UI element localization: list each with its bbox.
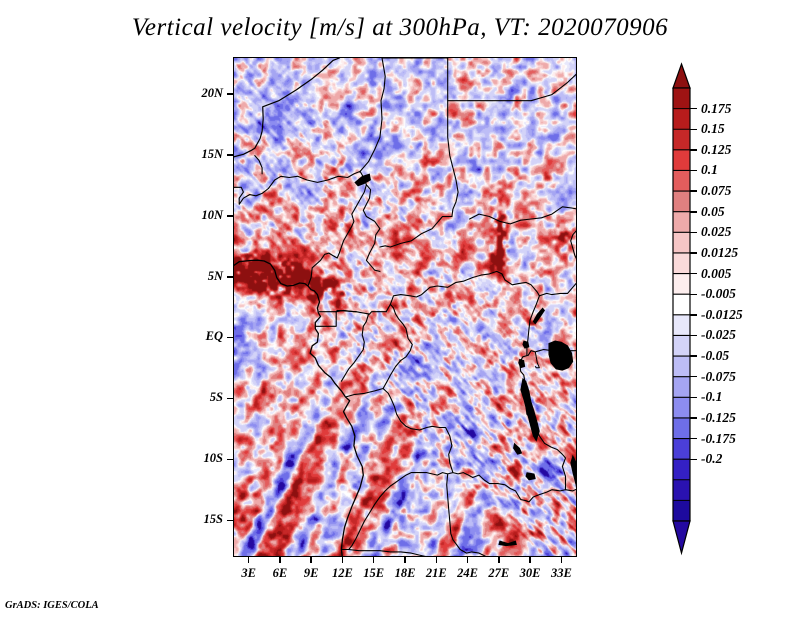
colorbar-band	[673, 294, 690, 315]
colorbar-tick-mark	[690, 108, 697, 109]
lake-polygon	[513, 443, 521, 454]
colorbar-band	[673, 480, 690, 501]
colorbar-band	[673, 459, 690, 480]
map-border-line	[308, 185, 366, 286]
latitude-tick-mark	[227, 398, 233, 400]
lake-polygon	[521, 379, 540, 441]
map-border-line	[448, 73, 577, 101]
map-border-line	[346, 389, 453, 550]
colorbar-tick-mark	[690, 129, 697, 130]
longitude-tick-mark	[342, 557, 344, 563]
colorbar-band	[673, 335, 690, 356]
colorbar-tick-mark	[690, 397, 697, 398]
colorbar-tick-mark	[690, 190, 697, 191]
colorbar-band	[673, 356, 690, 377]
colorbar-tick-label: -0.05	[701, 348, 729, 364]
colorbar-band	[673, 212, 690, 233]
colorbar-tick-mark	[690, 355, 697, 356]
colorbar[interactable]: 0.1750.150.1250.10.0750.050.0250.01250.0…	[671, 62, 800, 557]
colorbar-tick-label: 0.075	[701, 183, 731, 199]
latitude-tick-mark	[227, 215, 233, 217]
colorbar-band	[673, 274, 690, 295]
colorbar-band	[673, 315, 690, 336]
longitude-tick-mark	[248, 557, 250, 563]
latitude-tick-label: 5S	[175, 390, 223, 405]
lake-polygon	[523, 341, 529, 348]
map-border-line	[380, 217, 452, 248]
colorbar-tick-label: -0.125	[701, 410, 736, 426]
longitude-tick-mark	[467, 557, 469, 563]
latitude-tick-label: 15S	[175, 512, 223, 527]
colorbar-tick-mark	[690, 294, 697, 295]
map-border-line	[234, 260, 363, 557]
map-border-line	[360, 58, 385, 171]
map-border-line	[571, 229, 577, 262]
colorbar-tick-mark	[690, 170, 697, 171]
lake-polygon	[533, 308, 544, 324]
colorbar-tick-mark	[690, 335, 697, 336]
latitude-tick-mark	[227, 93, 233, 95]
colorbar-tick-label: 0.025	[701, 224, 731, 240]
longitude-tick-mark	[498, 557, 500, 563]
colorbar-tick-label: 0.0125	[701, 245, 738, 261]
colorbar-band	[673, 129, 690, 150]
colorbar-tick-label: -0.025	[701, 327, 736, 343]
map-panel[interactable]	[233, 57, 577, 557]
colorbar-tick-label: 0.1	[701, 162, 718, 178]
colorbar-band	[673, 150, 690, 171]
latitude-tick-label: 20N	[175, 86, 223, 101]
colorbar-tick-label: 0.005	[701, 266, 731, 282]
latitude-tick-mark	[227, 337, 233, 339]
longitude-tick-mark	[373, 557, 375, 563]
colorbar-tick-mark	[690, 252, 697, 253]
map-border-line	[356, 312, 370, 314]
colorbar-tick-mark	[690, 211, 697, 212]
page-title: Vertical velocity [m/s] at 300hPa, VT: 2…	[0, 14, 800, 42]
map-border-line	[470, 207, 577, 224]
colorbar-band	[673, 377, 690, 398]
latitude-tick-mark	[227, 520, 233, 522]
colorbar-band	[673, 418, 690, 439]
grads-plot-window: Vertical velocity [m/s] at 300hPa, VT: 2…	[0, 0, 800, 618]
longitude-tick-mark	[404, 557, 406, 563]
map-border-line	[453, 473, 566, 502]
colorbar-band	[673, 397, 690, 418]
latitude-tick-label: 10N	[175, 208, 223, 223]
longitude-tick-label: 33E	[536, 566, 586, 581]
colorbar-band	[673, 232, 690, 253]
colorbar-tick-mark	[690, 314, 697, 315]
map-border-line	[234, 171, 380, 271]
latitude-tick-mark	[227, 154, 233, 156]
map-frame	[233, 57, 577, 557]
map-border-line	[447, 474, 489, 557]
attribution-footer: GrADS: IGES/COLA	[5, 600, 99, 611]
map-border-line	[370, 312, 387, 314]
colorbar-tick-label: -0.0125	[701, 307, 743, 323]
colorbar-band	[673, 500, 690, 521]
longitude-tick-mark	[561, 557, 563, 563]
latitude-tick-label: 5N	[175, 269, 223, 284]
colorbar-tick-label: -0.2	[701, 451, 722, 467]
colorbar-tick-label: 0.125	[701, 142, 731, 158]
colorbar-band	[673, 253, 690, 274]
colorbar-band	[673, 109, 690, 130]
colorbar-tick-label: -0.1	[701, 389, 722, 405]
colorbar-tick-mark	[690, 149, 697, 150]
map-border-line	[234, 58, 339, 157]
longitude-tick-mark	[310, 557, 312, 563]
latitude-tick-mark	[227, 276, 233, 278]
map-border-line	[341, 314, 368, 381]
map-border-line	[342, 550, 432, 558]
colorbar-tick-mark	[690, 417, 697, 418]
colorbar-band	[673, 439, 690, 460]
colorbar-over-arrow	[673, 64, 690, 88]
map-border-line	[448, 58, 458, 217]
latitude-tick-label: EQ	[175, 329, 223, 344]
colorbar-tick-mark	[690, 438, 697, 439]
map-border-overlay	[234, 58, 577, 557]
latitude-tick-label: 10S	[175, 451, 223, 466]
map-border-line	[535, 352, 539, 368]
map-border-line	[255, 156, 262, 174]
colorbar-tick-mark	[690, 273, 697, 274]
lake-polygon	[549, 341, 573, 370]
longitude-tick-mark	[436, 557, 438, 563]
colorbar-under-arrow	[673, 521, 690, 553]
colorbar-tick-mark	[690, 459, 697, 460]
longitude-tick-mark	[529, 557, 531, 563]
map-border-line	[386, 271, 539, 311]
longitude-tick-mark	[279, 557, 281, 563]
colorbar-tick-label: -0.175	[701, 431, 736, 447]
colorbar-tick-label: 0.175	[701, 101, 731, 117]
colorbar-tick-label: 0.05	[701, 204, 725, 220]
colorbar-tick-label: 0.15	[701, 121, 725, 137]
map-border-line	[566, 489, 578, 491]
colorbar-tick-label: -0.075	[701, 369, 736, 385]
map-border-line	[383, 304, 412, 388]
colorbar-bands	[671, 62, 697, 557]
colorbar-band	[673, 191, 690, 212]
lake-polygon	[571, 456, 577, 505]
colorbar-tick-label: -0.005	[701, 286, 736, 302]
colorbar-tick-mark	[690, 376, 697, 377]
colorbar-tick-mark	[690, 232, 697, 233]
lake-polygon	[526, 473, 535, 480]
colorbar-band	[673, 170, 690, 191]
map-border-line	[539, 278, 577, 296]
lake-polygon	[499, 541, 517, 546]
latitude-tick-label: 15N	[175, 147, 223, 162]
latitude-tick-mark	[227, 459, 233, 461]
colorbar-band	[673, 88, 690, 109]
